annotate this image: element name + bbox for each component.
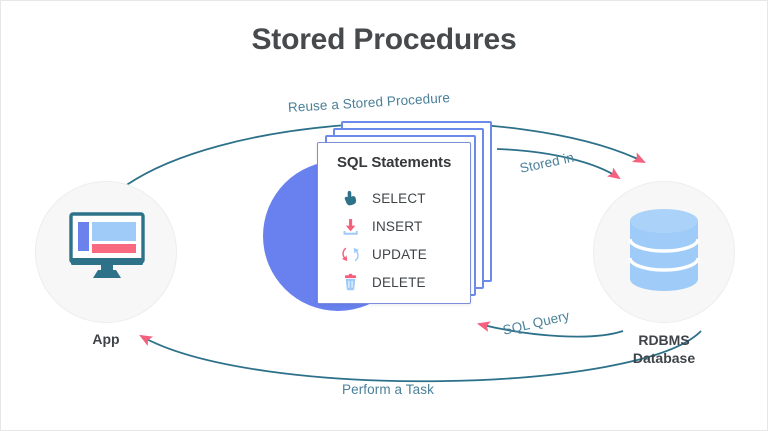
sql-statements-card-title: SQL Statements (337, 154, 451, 171)
refresh-arrows-icon (338, 243, 362, 265)
node-rdbms-label-line2: Database (584, 350, 744, 368)
database-cylinder-icon (626, 208, 702, 292)
pointing-hand-icon (338, 187, 362, 209)
statement-row-update[interactable]: UPDATE (338, 243, 427, 265)
diagram-canvas: Stored Procedures (0, 0, 768, 431)
node-rdbms-label: RDBMS Database (584, 332, 744, 368)
statement-row-delete[interactable]: DELETE (338, 271, 426, 293)
statement-row-insert[interactable]: INSERT (338, 215, 422, 237)
statement-label-delete: DELETE (372, 275, 426, 290)
download-tray-icon (338, 215, 362, 237)
statement-label-select: SELECT (372, 191, 426, 206)
edge-label-perform-a-task: Perform a Task (342, 382, 434, 397)
node-app-label: App (26, 331, 186, 349)
monitor-icon (69, 212, 145, 280)
node-rdbms-label-line1: RDBMS (584, 332, 744, 350)
statement-row-select[interactable]: SELECT (338, 187, 426, 209)
statement-label-insert: INSERT (372, 219, 422, 234)
trash-can-icon (338, 271, 362, 293)
statement-label-update: UPDATE (372, 247, 427, 262)
